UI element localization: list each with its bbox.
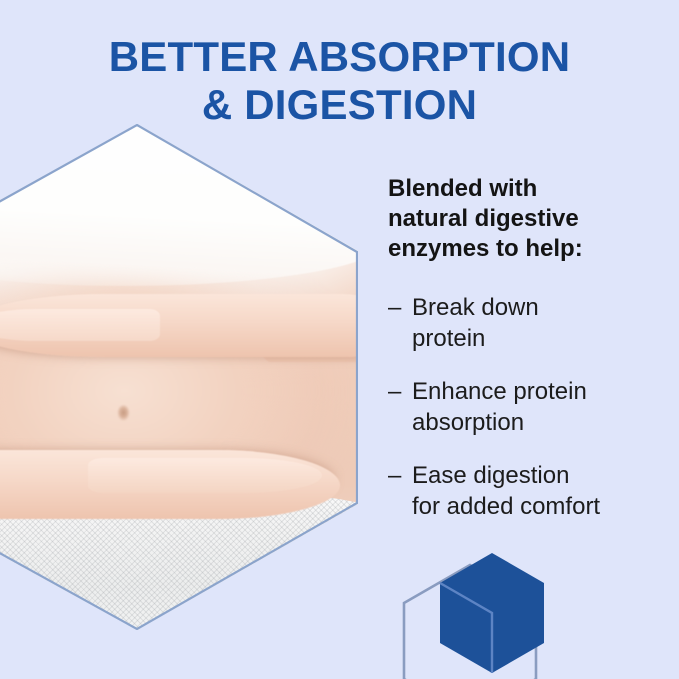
dash-icon: – [388, 376, 412, 407]
list-item-line-1: Break down [412, 292, 670, 323]
hexagon-decoration [372, 540, 612, 679]
hexagon-outline-icon [404, 565, 536, 679]
hexagon-filled-icon [440, 553, 544, 673]
page-title-line-2: & DIGESTION [0, 81, 679, 129]
hexagon-highlight-icon [440, 583, 492, 673]
lede-line-3: enzymes to help: [388, 234, 656, 264]
list-item-text: Ease digestion for added comfort [412, 460, 670, 522]
list-item-text: Enhance protein absorption [412, 376, 670, 438]
lede-heading: Blended with natural digestive enzymes t… [388, 174, 656, 264]
promo-banner: BETTER ABSORPTION & DIGESTION Blen [0, 0, 679, 679]
upper-hand-fingers [0, 309, 160, 341]
list-item-line-1: Ease digestion [412, 460, 670, 491]
list-item-text: Break down protein [412, 292, 670, 354]
hexagon-photo-clip [0, 124, 358, 630]
dash-icon: – [388, 292, 412, 323]
lede-line-2: natural digestive [388, 204, 656, 234]
list-item-line-2: protein [412, 323, 670, 354]
upper-garment [0, 124, 358, 286]
list-item-line-1: Enhance protein [412, 376, 670, 407]
list-item: – Ease digestion for added comfort [388, 460, 670, 522]
lede-line-1: Blended with [388, 174, 656, 204]
lower-hand-fingers [88, 458, 322, 493]
hexagon-photo [0, 124, 358, 630]
list-item: – Break down protein [388, 292, 670, 354]
benefits-list: – Break down protein – Enhance protein a… [388, 292, 670, 544]
dash-icon: – [388, 460, 412, 491]
page-title-line-1: BETTER ABSORPTION [0, 33, 679, 81]
list-item: – Enhance protein absorption [388, 376, 670, 438]
list-item-line-2: absorption [412, 407, 670, 438]
page-title: BETTER ABSORPTION & DIGESTION [0, 33, 679, 129]
lifestyle-photo [0, 124, 358, 630]
list-item-line-2: for added comfort [412, 491, 670, 522]
